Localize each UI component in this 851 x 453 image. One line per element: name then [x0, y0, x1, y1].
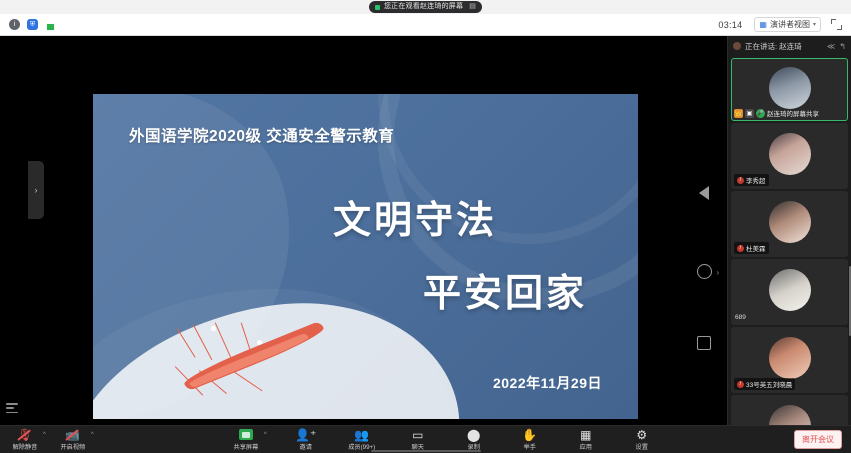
left-panel-expand-handle[interactable]: ›	[28, 161, 44, 219]
share-screen-group[interactable]: 共享屏幕 ^	[229, 428, 267, 451]
chevron-down-icon[interactable]: ▾	[813, 21, 816, 28]
invite-button[interactable]: 👤⁺ 邀请	[289, 428, 323, 451]
share-screen-label: 共享屏幕	[234, 442, 259, 451]
start-video-label: 开启视频	[60, 442, 85, 451]
avatar	[769, 269, 811, 311]
participant-name: 赵连琦的屏幕共享	[767, 108, 819, 118]
system-gesture-bar	[371, 450, 481, 453]
screen-share-icon	[375, 5, 380, 10]
slide-title-line1: 文明守法	[333, 189, 497, 244]
android-nav-column: ›	[687, 36, 721, 425]
participant-tile-screenshare[interactable]: 👑 ▣ 🎤 赵连琦的屏幕共享	[731, 58, 848, 121]
participant-tile-1[interactable]: / 李秀超	[731, 123, 848, 189]
apps-label: 应用	[580, 442, 592, 451]
participant-tile-4[interactable]: / 33号英五刘晓晨	[731, 327, 848, 393]
participant-name: 杜美霖	[746, 243, 766, 253]
home-icon[interactable]	[697, 264, 712, 279]
screen-share-notice-pill[interactable]: 您正在观看赵连琦的屏幕 ▤	[369, 1, 482, 13]
raise-hand-label: 举手	[524, 442, 536, 451]
mic-options-caret-icon[interactable]: ^	[43, 432, 46, 438]
apps-icon: ▦	[580, 428, 591, 441]
participant-namebar: / 33号英五刘晓晨	[734, 378, 795, 390]
slide-subtitle: 外国语学院2020级 交通安全警示教育	[129, 124, 394, 146]
system-status-bar: 您正在观看赵连琦的屏幕 ▤	[0, 0, 851, 14]
mic-muted-icon: /	[737, 245, 744, 252]
share-screen-icon	[239, 428, 253, 441]
app-chrome-bar: i ⛨ ▄ 03:14 ▦ 演讲者视图 ▾	[0, 14, 851, 36]
chevron-right-icon-nav[interactable]: ›	[716, 268, 719, 277]
share-options-caret-icon[interactable]: ^	[264, 432, 267, 438]
active-speaker-header: 正在讲话: 赵连琦 ≪ ↰	[728, 36, 851, 56]
back-icon[interactable]	[699, 186, 709, 200]
camera-muted-icon: 📹	[65, 428, 80, 441]
host-badge: 👑	[734, 109, 743, 118]
apps-button[interactable]: ▦ 应用	[569, 428, 603, 451]
toolbar-left-group: 🎙 解除静音 ^ 📹 开启视频 ^	[0, 428, 94, 451]
shared-screen-stage[interactable]: › 外国语学院2020级 交通安全警示教育 文明守法 平安回家 20	[0, 36, 727, 425]
leave-meeting-button[interactable]: 离开会议	[794, 430, 842, 449]
presentation-slide: 外国语学院2020级 交通安全警示教育 文明守法 平安回家 2022年11月29…	[93, 94, 638, 419]
chat-button[interactable]: ▭ 聊天	[401, 428, 435, 451]
chevron-right-icon: ›	[35, 185, 38, 195]
menu-icon[interactable]	[6, 403, 18, 413]
participant-name: 33号英五刘晓晨	[746, 379, 792, 389]
gear-icon: ⚙	[636, 428, 647, 441]
back-arrow-icon[interactable]: ↰	[839, 42, 846, 51]
settings-label: 设置	[636, 442, 648, 451]
mic-muted-icon: /	[737, 381, 744, 388]
chat-icon: ▭	[412, 428, 423, 441]
meeting-timer: 03:14	[718, 20, 742, 30]
raise-hand-button[interactable]: ✋ 举手	[513, 428, 547, 451]
participant-name: 李秀超	[746, 175, 766, 185]
record-button[interactable]: ⬤ 录制	[457, 428, 491, 451]
list-icon[interactable]: ▤	[469, 1, 476, 13]
screen-share-badge: ▣	[745, 109, 754, 118]
invite-icon: 👤⁺	[295, 428, 316, 441]
fullscreen-icon[interactable]	[831, 19, 842, 30]
participant-name: 689	[735, 314, 746, 321]
slide-decor-boat	[171, 322, 341, 392]
members-icon: 👥	[354, 428, 369, 441]
avatar	[769, 337, 811, 379]
avatar	[769, 133, 811, 175]
mic-muted-icon: /	[737, 177, 744, 184]
share-screen-button[interactable]: 共享屏幕	[229, 428, 263, 451]
toolbar-center-group: 共享屏幕 ^ 👤⁺ 邀请 👥 成员(99+) ▭ 聊天 ⬤ 录制 ✋ 举手 ▦ …	[94, 428, 794, 451]
slide-date: 2022年11月29日	[493, 373, 602, 393]
chrome-left-icons: i ⛨ ▄	[0, 19, 56, 30]
camera-control-group[interactable]: 📹 开启视频 ^	[56, 428, 94, 451]
avatar	[769, 67, 811, 109]
unmute-button[interactable]: 🎙 解除静音	[8, 428, 42, 451]
info-icon[interactable]: i	[9, 19, 20, 30]
view-mode-label: 演讲者视图	[770, 19, 810, 30]
recents-icon[interactable]	[697, 336, 711, 350]
settings-button[interactable]: ⚙ 设置	[625, 428, 659, 451]
mic-muted-icon: 🎙	[17, 428, 32, 441]
participant-namebar: / 杜美霖	[734, 242, 769, 254]
signal-icon: ▄	[45, 19, 56, 30]
speaker-icon	[733, 42, 741, 50]
record-icon: ⬤	[467, 428, 480, 441]
participant-tile-2[interactable]: / 杜美霖	[731, 191, 848, 257]
invite-label: 邀请	[300, 442, 312, 451]
active-speaker-label: 正在讲话: 赵连琦	[745, 41, 823, 52]
screen-share-notice-label: 您正在观看赵连琦的屏幕	[384, 1, 463, 13]
view-mode-button[interactable]: ▦ 演讲者视图 ▾	[754, 17, 821, 32]
start-video-button[interactable]: 📹 开启视频	[56, 428, 90, 451]
raise-hand-icon: ✋	[522, 428, 537, 441]
participant-namebar: / 李秀超	[734, 174, 769, 186]
mic-on-badge: 🎤	[756, 109, 765, 118]
avatar	[769, 201, 811, 243]
shield-icon[interactable]: ⛨	[27, 19, 38, 30]
slide-title-line2: 平安回家	[423, 262, 587, 317]
layout-icon: ▦	[759, 20, 767, 29]
unmute-label: 解除静音	[13, 442, 38, 451]
participant-rail[interactable]: 正在讲话: 赵连琦 ≪ ↰ 👑 ▣ 🎤 赵连琦的屏幕共享 / 李秀超 / 杜美霖…	[727, 36, 851, 425]
participant-badges: 👑 ▣ 🎤 赵连琦的屏幕共享	[734, 108, 819, 118]
members-button[interactable]: 👥 成员(99+)	[345, 428, 379, 451]
participant-tile-3[interactable]: 689	[731, 259, 848, 325]
mic-control-group[interactable]: 🎙 解除静音 ^	[8, 428, 46, 451]
toolbar-right-group: 离开会议	[794, 430, 851, 449]
collapse-icon[interactable]: ≪	[827, 42, 835, 51]
